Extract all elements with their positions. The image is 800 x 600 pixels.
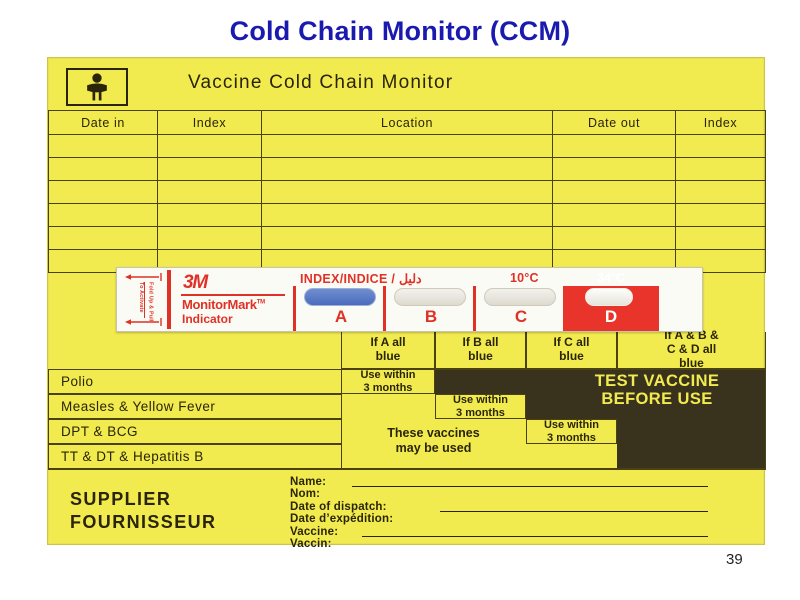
cell-location[interactable]	[262, 181, 553, 204]
field-expedition-label: Date d’expédition:	[290, 513, 393, 525]
use-within-a: Use within3 months	[341, 369, 435, 394]
use-within-c: Use within3 months	[526, 419, 617, 444]
field-nom-label: Nom:	[290, 488, 320, 500]
indicator-subtitle: Indicator	[182, 312, 233, 326]
table-header-row: Date in Index Location Date out Index	[49, 111, 766, 135]
window-b-label: B	[386, 307, 476, 327]
window-a-label: A	[296, 307, 386, 327]
cell-index-out[interactable]	[676, 204, 766, 227]
activate-text: To Activate Fold Up & Pull	[123, 282, 167, 318]
cell-index-out[interactable]	[676, 158, 766, 181]
col-index-in: Index	[158, 111, 262, 135]
index-indice-label: INDEX/INDICE / دليل	[300, 271, 422, 286]
cell-location[interactable]	[262, 135, 553, 158]
interp-cell-b: If B allblue	[435, 332, 526, 369]
card-header: Vaccine Cold Chain Monitor	[48, 58, 764, 110]
cell-location[interactable]	[262, 204, 553, 227]
window-a-glass	[304, 288, 376, 306]
temp-34c-label: 34°C	[563, 271, 659, 285]
cell-location[interactable]	[262, 158, 553, 181]
table-row[interactable]	[49, 227, 766, 250]
cell-date-out[interactable]	[553, 181, 676, 204]
indicator-window-b: B	[383, 286, 473, 331]
cell-index-out[interactable]	[676, 227, 766, 250]
col-date-out: Date out	[553, 111, 676, 135]
cell-date-out[interactable]	[553, 227, 676, 250]
window-d-label: D	[563, 307, 659, 327]
test-vaccine-before-use-label: TEST VACCINEBEFORE USE	[548, 372, 766, 409]
supplier-block: SUPPLIER FOURNISSEUR Name: Nom: Date of …	[48, 469, 766, 546]
monitormark-wordmark: MonitorMarkTM	[182, 297, 265, 312]
card-title: Vaccine Cold Chain Monitor	[188, 72, 453, 94]
cell-date-out[interactable]	[553, 158, 676, 181]
brand-block: 3M MonitorMarkTM Indicator	[179, 270, 291, 329]
cell-index-in[interactable]	[158, 158, 262, 181]
table-row[interactable]	[49, 158, 766, 181]
table-row[interactable]	[49, 181, 766, 204]
vaccine-row-polio: Polio	[48, 369, 341, 394]
vaccine-row-dpt-bcg: DPT & BCG	[48, 419, 341, 444]
arrow-left-icon-2	[125, 318, 163, 326]
cell-date-out[interactable]	[553, 135, 676, 158]
page-title: Cold Chain Monitor (CCM)	[0, 16, 800, 47]
cell-date-in[interactable]	[49, 227, 158, 250]
child-figure-icon	[66, 68, 128, 106]
3m-logo: 3M	[183, 272, 207, 294]
cell-location[interactable]	[262, 227, 553, 250]
col-index-out: Index	[676, 111, 766, 135]
field-vaccine-input[interactable]	[362, 536, 708, 537]
monitormark-indicator-strip: To Activate Fold Up & Pull 3M MonitorMar…	[116, 267, 703, 332]
supplier-title-fr: FOURNISSEUR	[70, 512, 216, 532]
field-vaccin-label: Vaccin:	[290, 538, 332, 550]
cell-date-in[interactable]	[49, 158, 158, 181]
cell-date-in[interactable]	[49, 135, 158, 158]
cell-index-out[interactable]	[676, 181, 766, 204]
col-location: Location	[262, 111, 553, 135]
interp-cell-c: If C allblue	[526, 332, 617, 369]
table-body	[49, 135, 766, 273]
supplier-title: SUPPLIER FOURNISSEUR	[70, 488, 216, 535]
window-d-glass	[585, 288, 633, 306]
vaccine-row-tt-dt-hepb: TT & DT & Hepatitis B	[48, 444, 341, 469]
cell-index-in[interactable]	[158, 204, 262, 227]
col-date-in: Date in	[49, 111, 158, 135]
temp-10c-label: 10°C	[510, 271, 539, 285]
vaccine-matrix: Polio Measles & Yellow Fever DPT & BCG T…	[48, 369, 766, 469]
monitormark-text: MonitorMark	[182, 297, 257, 312]
vaccine-row-measles: Measles & Yellow Fever	[48, 394, 341, 419]
field-dispatch-input[interactable]	[440, 511, 708, 512]
cell-index-in[interactable]	[158, 135, 262, 158]
test-region-row3	[617, 419, 766, 469]
supplier-fields: Name: Nom: Date of dispatch: Date d’expé…	[290, 476, 750, 544]
use-within-b: Use within3 months	[435, 394, 526, 419]
field-dispatch-label: Date of dispatch:	[290, 501, 387, 513]
window-c-glass	[484, 288, 556, 306]
cell-date-in[interactable]	[49, 204, 158, 227]
cell-date-out[interactable]	[553, 204, 676, 227]
indicator-window-a: A	[293, 286, 383, 331]
table-row[interactable]	[49, 135, 766, 158]
cell-index-out[interactable]	[676, 135, 766, 158]
indicator-window-c: C	[473, 286, 563, 331]
indicator-windows: A B C 34°C D	[293, 286, 702, 331]
field-name-label: Name:	[290, 476, 326, 488]
supplier-title-en: SUPPLIER	[70, 489, 171, 509]
activate-line-2: Fold Up & Pull	[144, 282, 152, 318]
page-number: 39	[726, 551, 743, 568]
indicator-window-d: 34°C D	[563, 286, 659, 331]
cell-date-in[interactable]	[49, 181, 158, 204]
trademark-symbol: TM	[257, 300, 265, 306]
table-row[interactable]	[49, 204, 766, 227]
interpretation-row: If A allblue If B allblue If C allblue I…	[48, 332, 766, 369]
window-c-label: C	[476, 307, 566, 327]
cold-chain-monitor-card: Vaccine Cold Chain Monitor Date in Index…	[47, 57, 765, 545]
interp-cell-a: If A allblue	[341, 332, 435, 369]
these-vaccines-may-be-used-label: These vaccinesmay be used	[341, 426, 526, 456]
cell-index-in[interactable]	[158, 227, 262, 250]
cell-index-in[interactable]	[158, 181, 262, 204]
arrow-left-icon	[125, 273, 163, 281]
window-b-glass	[394, 288, 466, 306]
field-vaccine-label: Vaccine:	[290, 526, 338, 538]
interp-cell-abcd: If A & B &C & D allblue	[617, 332, 766, 369]
activate-instruction: To Activate Fold Up & Pull	[119, 270, 171, 329]
brand-divider	[181, 294, 285, 296]
field-name-input[interactable]	[352, 486, 708, 487]
activate-line-1: To Activate	[138, 282, 143, 318]
log-table: Date in Index Location Date out Index	[48, 110, 766, 273]
